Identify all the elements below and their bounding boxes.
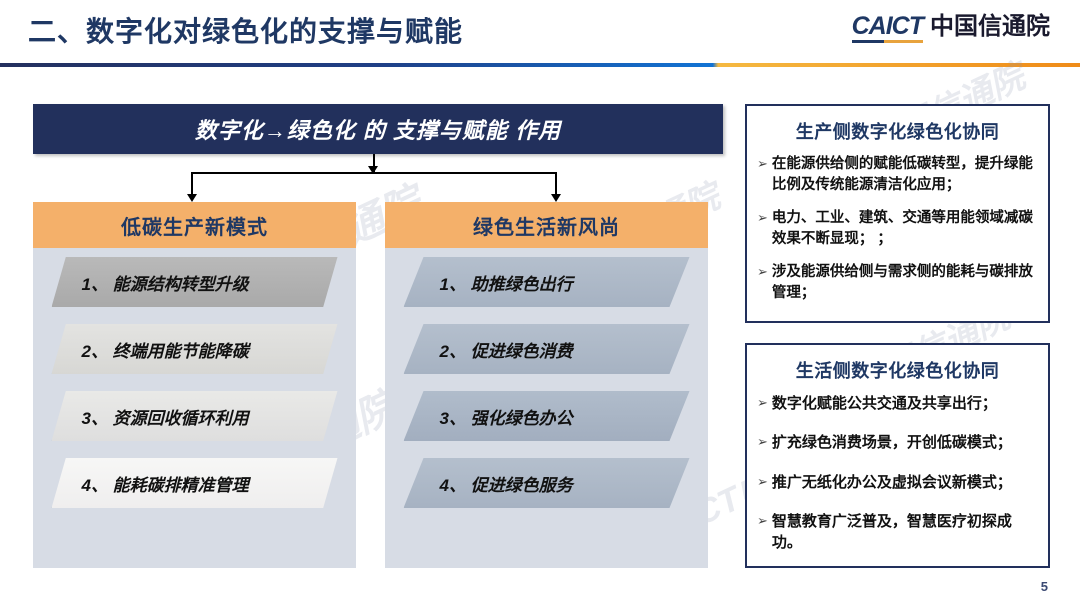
panel-title: 生产侧数字化绿色化协同 [747,118,1048,144]
column-items: 1、 助推绿色出行 2、 促进绿色消费 3、 强化绿色办公 4、 促进绿色服务 [385,248,708,508]
connector-branch-left [191,172,193,196]
arrow-bullet-icon: ➢ [757,262,768,282]
list-item-label: 数字化赋能公共交通及共享出行； [772,393,997,414]
connector-arrow-right-icon [551,194,561,202]
list-item-label: 智慧教育广泛普及，智慧医疗初探成功。 [772,511,1036,554]
arrow-bullet-icon: ➢ [757,511,768,531]
column-green-lifestyle: 绿色生活新风尚 1、 助推绿色出行 2、 促进绿色消费 3、 强化绿色办公 4、… [385,202,708,568]
list-item: ➢ 数字化赋能公共交通及共享出行； [757,393,1036,414]
list-item: ➢ 智慧教育广泛普及，智慧医疗初探成功。 [757,511,1036,554]
list-item[interactable]: 2、 促进绿色消费 [404,324,690,374]
list-item-label: 推广无纸化办公及虚拟会议新模式； [772,472,1012,493]
connector-arrow-left-icon [187,194,197,202]
panel-lifestyle-side: 生活侧数字化绿色化协同 ➢ 数字化赋能公共交通及共享出行； ➢ 扩充绿色消费场景… [745,343,1050,568]
list-item[interactable]: 1、 助推绿色出行 [404,257,690,307]
list-item-label: 3、 强化绿色办公 [440,404,573,429]
caict-logo: CAICT 中国信通院 [852,14,1050,42]
page-title: 二、数字化对绿色化的支撑与赋能 [28,10,463,50]
column-low-carbon-production: 低碳生产新模式 1、 能源结构转型升级 2、 终端用能节能降碳 3、 资源回收循… [33,202,356,568]
list-item: ➢ 涉及能源供给侧与需求侧的能耗与碳排放管理； [757,262,1036,303]
panel-title: 生活侧数字化绿色化协同 [747,357,1048,383]
list-item-label: 2、 终端用能节能降碳 [82,337,249,362]
list-item: ➢ 在能源供给侧的赋能低碳转型，提升绿能比例及传统能源清洁化应用； [757,154,1036,195]
panel-production-side: 生产侧数字化绿色化协同 ➢ 在能源供给侧的赋能低碳转型，提升绿能比例及传统能源清… [745,104,1050,323]
connector-branch-right [555,172,557,196]
list-item-label: 3、 资源回收循环利用 [82,404,249,429]
slide-canvas: 二、数字化对绿色化的支撑与赋能 CAICT 中国信通院 CAICT中国信通院 C… [0,0,1080,608]
list-item[interactable]: 2、 终端用能节能降碳 [52,324,338,374]
column-items: 1、 能源结构转型升级 2、 终端用能节能降碳 3、 资源回收循环利用 4、 能… [33,248,356,508]
arrow-bullet-icon: ➢ [757,393,768,413]
list-item-label: 4、 促进绿色服务 [440,471,573,496]
list-item[interactable]: 1、 能源结构转型升级 [52,257,338,307]
list-item: ➢ 电力、工业、建筑、交通等用能领域减碳效果不断显现； ； [757,208,1036,249]
arrow-bullet-icon: ➢ [757,432,768,452]
list-item-label: 1、 助推绿色出行 [440,270,573,295]
list-item: ➢ 扩充绿色消费场景，开创低碳模式； [757,432,1036,453]
list-item-label: 4、 能耗碳排精准管理 [82,471,249,496]
logo-mark-text: CAICT [852,14,923,42]
connector-horizontal-bar [191,172,557,174]
panel-bullet-list: ➢ 数字化赋能公共交通及共享出行； ➢ 扩充绿色消费场景，开创低碳模式； ➢ 推… [747,393,1048,553]
page-number: 5 [1041,579,1048,594]
list-item[interactable]: 4、 促进绿色服务 [404,458,690,508]
list-item-label: 电力、工业、建筑、交通等用能领域减碳效果不断显现； ； [772,208,1036,249]
main-banner: 数字化→绿色化 的 支撑与赋能 作用 [33,104,723,154]
list-item-label: 扩充绿色消费场景，开创低碳模式； [772,432,1012,453]
panel-bullet-list: ➢ 在能源供给侧的赋能低碳转型，提升绿能比例及传统能源清洁化应用； ➢ 电力、工… [747,154,1048,303]
list-item[interactable]: 3、 强化绿色办公 [404,391,690,441]
column-heading: 低碳生产新模式 [33,202,356,248]
arrow-bullet-icon: ➢ [757,208,768,228]
column-heading: 绿色生活新风尚 [385,202,708,248]
list-item-label: 涉及能源供给侧与需求侧的能耗与碳排放管理； [772,262,1036,303]
list-item: ➢ 推广无纸化办公及虚拟会议新模式； [757,472,1036,493]
list-item-label: 在能源供给侧的赋能低碳转型，提升绿能比例及传统能源清洁化应用； [772,154,1036,195]
arrow-bullet-icon: ➢ [757,154,768,174]
arrow-bullet-icon: ➢ [757,472,768,492]
header-divider-rule [0,63,1080,67]
logo-chinese-text: 中国信通院 [930,15,1050,42]
list-item[interactable]: 4、 能耗碳排精准管理 [52,458,338,508]
list-item-label: 1、 能源结构转型升级 [82,270,249,295]
list-item[interactable]: 3、 资源回收循环利用 [52,391,338,441]
list-item-label: 2、 促进绿色消费 [440,337,573,362]
